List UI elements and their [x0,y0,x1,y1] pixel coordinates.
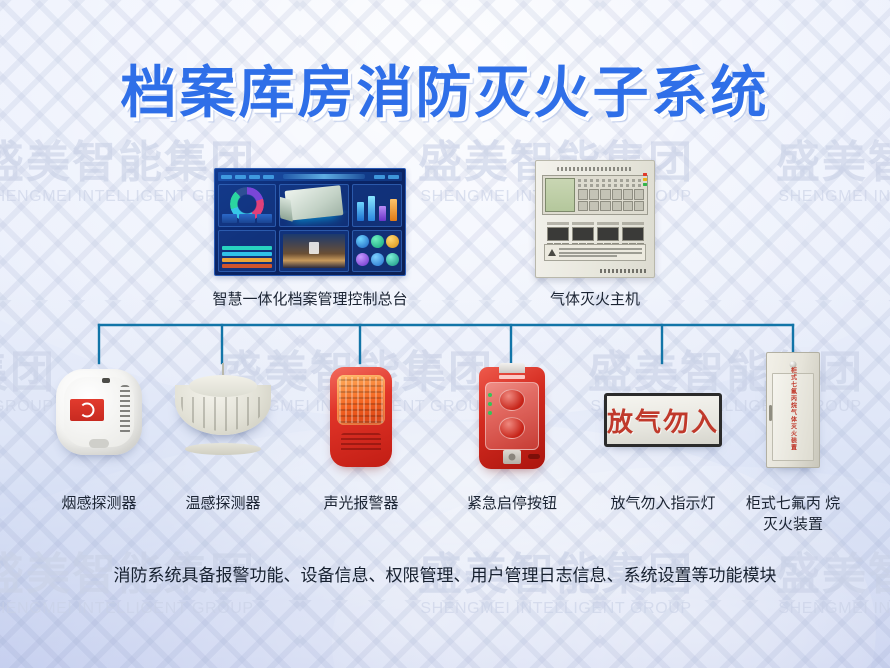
lcd-screen [545,178,575,212]
warning-triangle-icon [548,249,556,256]
watermark-en: SHENGMEI INTELLIGENT GROUP [776,600,890,618]
device-emergency-button[interactable]: 紧急启停按钮 [451,363,573,514]
detector-logo [70,399,104,421]
speaker-grill [341,433,381,453]
brand-mark [499,375,525,379]
dashboard-bars-panel [352,184,402,227]
indicator-dots [488,393,492,415]
stop-button[interactable] [499,417,525,439]
sign-text: 放气勿入 [607,402,719,439]
emergency-button-image [451,363,573,483]
watermark-en: SHENGMEI INTELLIGENT GROUP [776,188,890,206]
node-console[interactable]: 智慧一体化档案管理控制总台 [185,168,435,310]
indicator-sign: 放气勿入 [604,393,722,447]
key-lock[interactable] [503,450,521,464]
panel-title-strip [557,167,633,171]
vent-slots [120,385,130,435]
cabinet-vertical-text: 柜式七氟丙烷气体灭火装置 [789,367,798,451]
smoke-detector-image [38,363,160,483]
device-gas-indicator[interactable]: 放气勿入 放气勿入指示灯 [598,363,728,514]
heat-detector-image [162,363,284,483]
node-gas-panel[interactable]: 气体灭火主机 [500,160,690,310]
device-caption: 紧急启停按钮 [451,493,573,514]
gas-control-panel-image [535,160,655,278]
page-title: 档案库房消防灭火子系统 [0,48,890,129]
watermark-tile: 盛美智能集团 SHENGMEI INTELLIGENT GROUP [776,140,890,206]
node-console-caption: 智慧一体化档案管理控制总台 [185,290,435,310]
dashboard-screen-image [214,168,406,276]
device-cabinet-extinguisher[interactable]: 柜式七氟丙烷气体灭火装置 柜式七氟丙 烷灭火装置 [741,352,845,535]
watermark-en: SHENGMEI INTELLIGENT GROUP [0,600,256,618]
spray-button[interactable] [499,389,525,411]
device-render [285,185,344,221]
device-caption: 烟感探测器 [38,493,160,514]
device-caption: 柜式七氟丙 烷灭火装置 [741,493,845,535]
gas-indicator-image: 放气勿入 [598,363,728,483]
keypad [577,178,645,212]
device-heat-detector[interactable]: 温感探测器 [162,363,284,514]
warning-label [544,244,646,261]
dashboard-3d-panel [279,184,349,227]
watermark-cn: 盛美智能集团 [776,140,890,186]
dashboard-timeline-panel [218,230,276,273]
vent-slot [528,454,540,459]
device-caption: 放气勿入指示灯 [598,493,728,514]
panel-brand-mark [600,269,646,273]
dashboard-topbar [218,172,402,181]
dashboard-grid [218,184,402,272]
cabinet-handle[interactable] [769,405,772,421]
device-smoke-detector[interactable]: 烟感探测器 [38,363,160,514]
strobe-window [337,375,385,425]
device-caption: 声光报警器 [300,493,422,514]
dashboard-video-panel [279,230,349,273]
led-indicator [102,378,110,383]
dashboard-gauge-panel [218,184,276,227]
hinge-clip [499,363,525,373]
status-leds [643,173,647,186]
watermark-en: SHENGMEI INTELLIGENT GROUP [418,600,694,618]
node-panel-caption: 气体灭火主机 [500,290,690,310]
panel-head [542,175,648,215]
sound-light-alarm-image [300,363,422,483]
footer-description: 消防系统具备报警功能、设备信息、权限管理、用户管理日志信息、系统设置等功能模块 [96,560,794,591]
cabinet-extinguisher-image: 柜式七氟丙烷气体灭火装置 [741,352,845,483]
device-caption: 温感探测器 [162,493,284,514]
device-sound-light-alarm[interactable]: 声光报警器 [300,363,422,514]
test-button[interactable] [89,439,109,448]
dashboard-icons-panel [352,230,402,273]
